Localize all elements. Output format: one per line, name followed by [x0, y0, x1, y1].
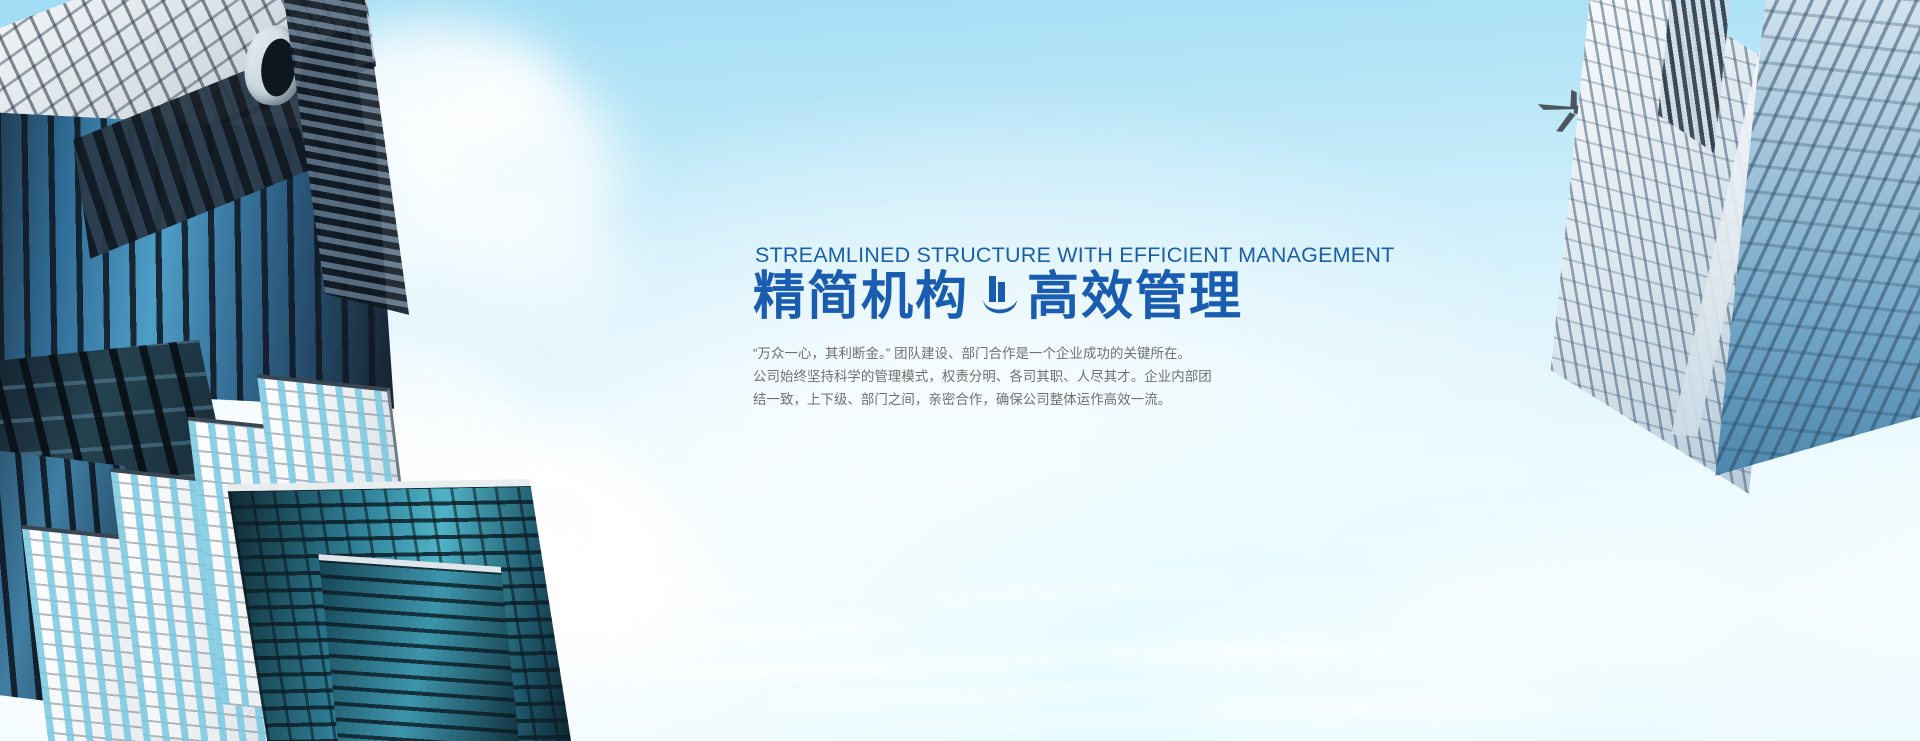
hero-headline-left: 精简机构	[753, 267, 969, 328]
hero-headline-row: 精简机构 高效管理	[753, 267, 1293, 328]
cirrus-streak	[900, 576, 1230, 604]
cirrus-streak	[760, 683, 1140, 709]
cirrus-streak	[860, 713, 1190, 731]
company-logo-mark-icon	[977, 274, 1019, 322]
teal-glass-tower-secondary	[318, 554, 521, 741]
description-line: “万众一心，其利断金。” 团队建设、部门合作是一个企业成功的关键所在。	[753, 342, 1178, 365]
hero-description: “万众一心，其利断金。” 团队建设、部门合作是一个企业成功的关键所在。 公司始终…	[753, 342, 1178, 411]
description-line: 结一致，上下级、部门之间，亲密合作，确保公司整体运作高效一流。	[753, 388, 1178, 411]
hero-english-title: STREAMLINED STRUCTURE WITH EFFICIENT MAN…	[753, 242, 1293, 269]
silver-tower-right	[1507, 0, 1920, 451]
description-line: 公司始终坚持科学的管理模式，权责分明、各司其职、人尽其才。企业内部团	[753, 365, 1178, 388]
hero-headline-right: 高效管理	[1027, 267, 1243, 328]
hero-banner: STREAMLINED STRUCTURE WITH EFFICIENT MAN…	[0, 0, 1920, 741]
hero-text-block: STREAMLINED STRUCTURE WITH EFFICIENT MAN…	[753, 242, 1293, 411]
cirrus-streak	[640, 653, 1060, 684]
